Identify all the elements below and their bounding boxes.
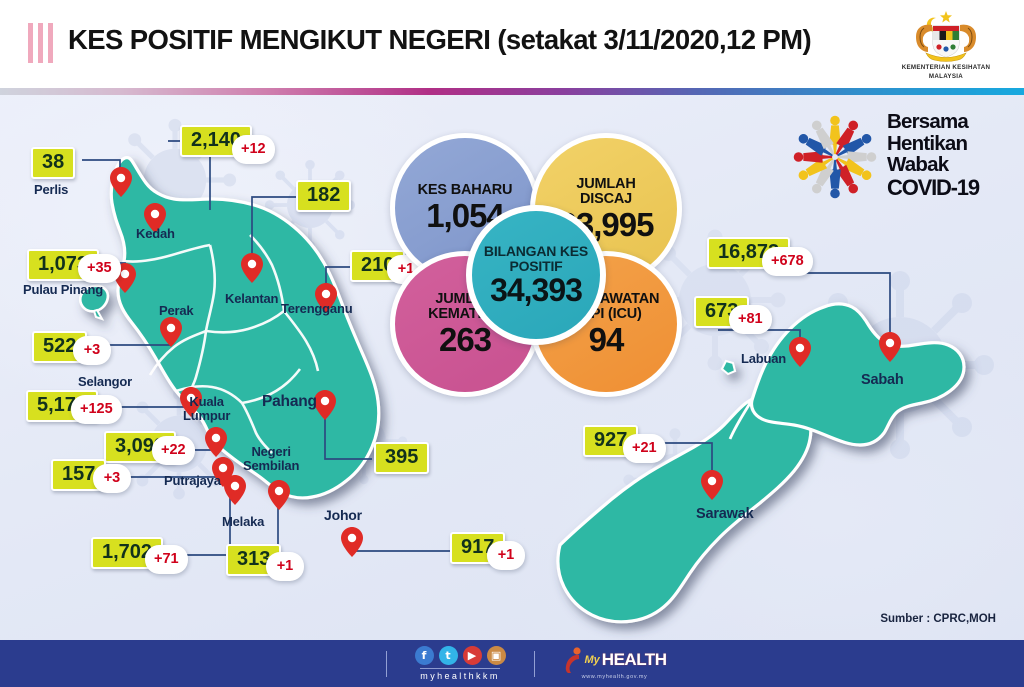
people-circle-icon (787, 109, 883, 205)
crest-caption: KEMENTERIAN KESIHATAN MALAYSIA (886, 63, 1006, 82)
map-pin-negeri-sembilan[interactable] (224, 475, 246, 505)
state-label-selangor: Selangor (78, 375, 132, 389)
source-note: Sumber : CPRC,MOH (880, 613, 996, 625)
kl-line1: Kuala (183, 395, 230, 409)
delta-badge-selangor: +125 (71, 395, 122, 424)
map-pin-sabah[interactable] (879, 332, 901, 362)
map-pin-melaka[interactable] (268, 480, 290, 510)
state-label-kelantan: Kelantan (225, 292, 278, 306)
state-label-johor: Johor (324, 508, 362, 523)
footer-divider-right (534, 651, 535, 677)
map-pin-pahang[interactable] (314, 390, 336, 420)
page-title: KES POSITIF MENGIKUT NEGERI (setakat 3/1… (68, 24, 811, 56)
malaysia-coat-of-arms-icon (886, 6, 1006, 62)
campaign-text: Bersama Hentikan Wabak COVID-19 (887, 111, 979, 199)
state-label-pulau-pinang: Pulau Pinang (23, 283, 103, 297)
delta-badge-kedah: +12 (232, 135, 275, 164)
map-pin-johor[interactable] (341, 527, 363, 557)
delta-badge-labuan: +81 (729, 305, 772, 334)
delta-badge-putrajaya: +3 (93, 464, 131, 493)
state-label-negeri-sembilan: Negeri Sembilan (243, 445, 299, 472)
state-label-sabah: Sabah (861, 373, 904, 388)
state-label-melaka: Melaka (222, 515, 264, 529)
state-label-kuala-lumpur: Kuala Lumpur (183, 395, 230, 422)
sabah-region (751, 304, 964, 445)
state-label-putrajaya: Putrajaya (164, 474, 221, 488)
map-pin-kuala-lumpur[interactable] (205, 427, 227, 457)
header-gradient-divider (0, 88, 1024, 95)
delta-badge-negeri-sembilan: +71 (145, 545, 188, 574)
map-pin-labuan[interactable] (789, 337, 811, 367)
campaign-line-3: Wabak (887, 154, 979, 176)
map-pin-sarawak[interactable] (701, 470, 723, 500)
title-accent-bars (28, 23, 53, 63)
campaign-line-1: Bersama (887, 111, 979, 133)
twitter-icon[interactable]: t (439, 646, 458, 665)
facebook-icon[interactable]: f (415, 646, 434, 665)
delta-badge-sarawak: +21 (623, 434, 666, 463)
delta-badge-johor: +1 (487, 541, 525, 570)
stat-total-label-l1: BILANGAN KES (484, 244, 588, 259)
delta-badge-sabah: +678 (762, 247, 813, 276)
myhealth-my-text: My (585, 654, 600, 666)
social-handle: myhealthkkm (420, 668, 499, 681)
campaign-logo: Bersama Hentikan Wabak COVID-19 (787, 109, 1015, 209)
stat-deaths-value: 263 (439, 323, 491, 357)
state-label-kedah: Kedah (136, 227, 175, 241)
state-label-perak: Perak (159, 304, 193, 318)
value-box-kelantan: 182 (296, 180, 351, 212)
labuan-island (722, 361, 735, 374)
state-label-perlis: Perlis (34, 183, 68, 197)
stat-icu-value: 94 (589, 323, 624, 357)
delta-badge-kuala-lumpur: +22 (152, 436, 195, 465)
stat-total-positive: BILANGAN KES POSITIF 34,393 (466, 205, 606, 345)
delta-badge-melaka: +1 (266, 552, 304, 581)
myhealth-logo[interactable]: My HEALTH www.myhealth.gov.my (563, 647, 667, 680)
ns-line1: Negeri (243, 445, 299, 459)
youtube-icon[interactable]: ▶ (463, 646, 482, 665)
myhealth-word-text: HEALTH (602, 650, 667, 670)
myhealth-url: www.myhealth.gov.my (582, 674, 648, 680)
state-label-labuan: Labuan (741, 352, 786, 366)
map-pin-kelantan[interactable] (241, 253, 263, 283)
stat-discharged-label-l1: JUMLAH (576, 177, 635, 192)
state-label-pahang: Pahang (262, 394, 317, 410)
map-pin-perlis[interactable] (110, 167, 132, 197)
campaign-line-2: Hentikan (887, 133, 979, 155)
value-box-pahang: 395 (374, 442, 429, 474)
header-bar: KES POSITIF MENGIKUT NEGERI (setakat 3/1… (0, 0, 1024, 88)
instagram-icon[interactable]: ▣ (487, 646, 506, 665)
social-links: f t ▶ ▣ myhealthkkm (415, 646, 506, 681)
state-label-terengganu: Terengganu (281, 302, 352, 316)
myhealth-logo-row: My HEALTH (563, 647, 667, 673)
campaign-line-4: COVID-19 (887, 176, 979, 199)
map-canvas: Perlis Kedah Pulau Pinang Perak Selangor… (0, 95, 1024, 640)
social-icon-row: f t ▶ ▣ (415, 646, 506, 665)
footer-divider-left (386, 651, 387, 677)
ns-line2: Sembilan (243, 459, 299, 473)
summary-statistics-cluster: KES BAHARU 1,054 JUMLAH DISCAJ 23,995 JU… (388, 133, 683, 398)
delta-badge-pulau-pinang: +35 (78, 254, 121, 283)
infographic-poster: KES POSITIF MENGIKUT NEGERI (setakat 3/1… (0, 0, 1024, 687)
ministry-crest: KEMENTERIAN KESIHATAN MALAYSIA (886, 6, 1006, 82)
stat-total-value: 34,393 (490, 274, 582, 307)
state-label-sarawak: Sarawak (696, 507, 753, 522)
value-box-perlis: 38 (31, 147, 75, 179)
footer-bar: f t ▶ ▣ myhealthkkm My HEALTH www.myheal… (0, 640, 1024, 687)
map-pin-perak[interactable] (160, 317, 182, 347)
myhealth-figure-icon (563, 647, 583, 673)
kl-line2: Lumpur (183, 409, 230, 423)
delta-badge-perak: +3 (73, 336, 111, 365)
